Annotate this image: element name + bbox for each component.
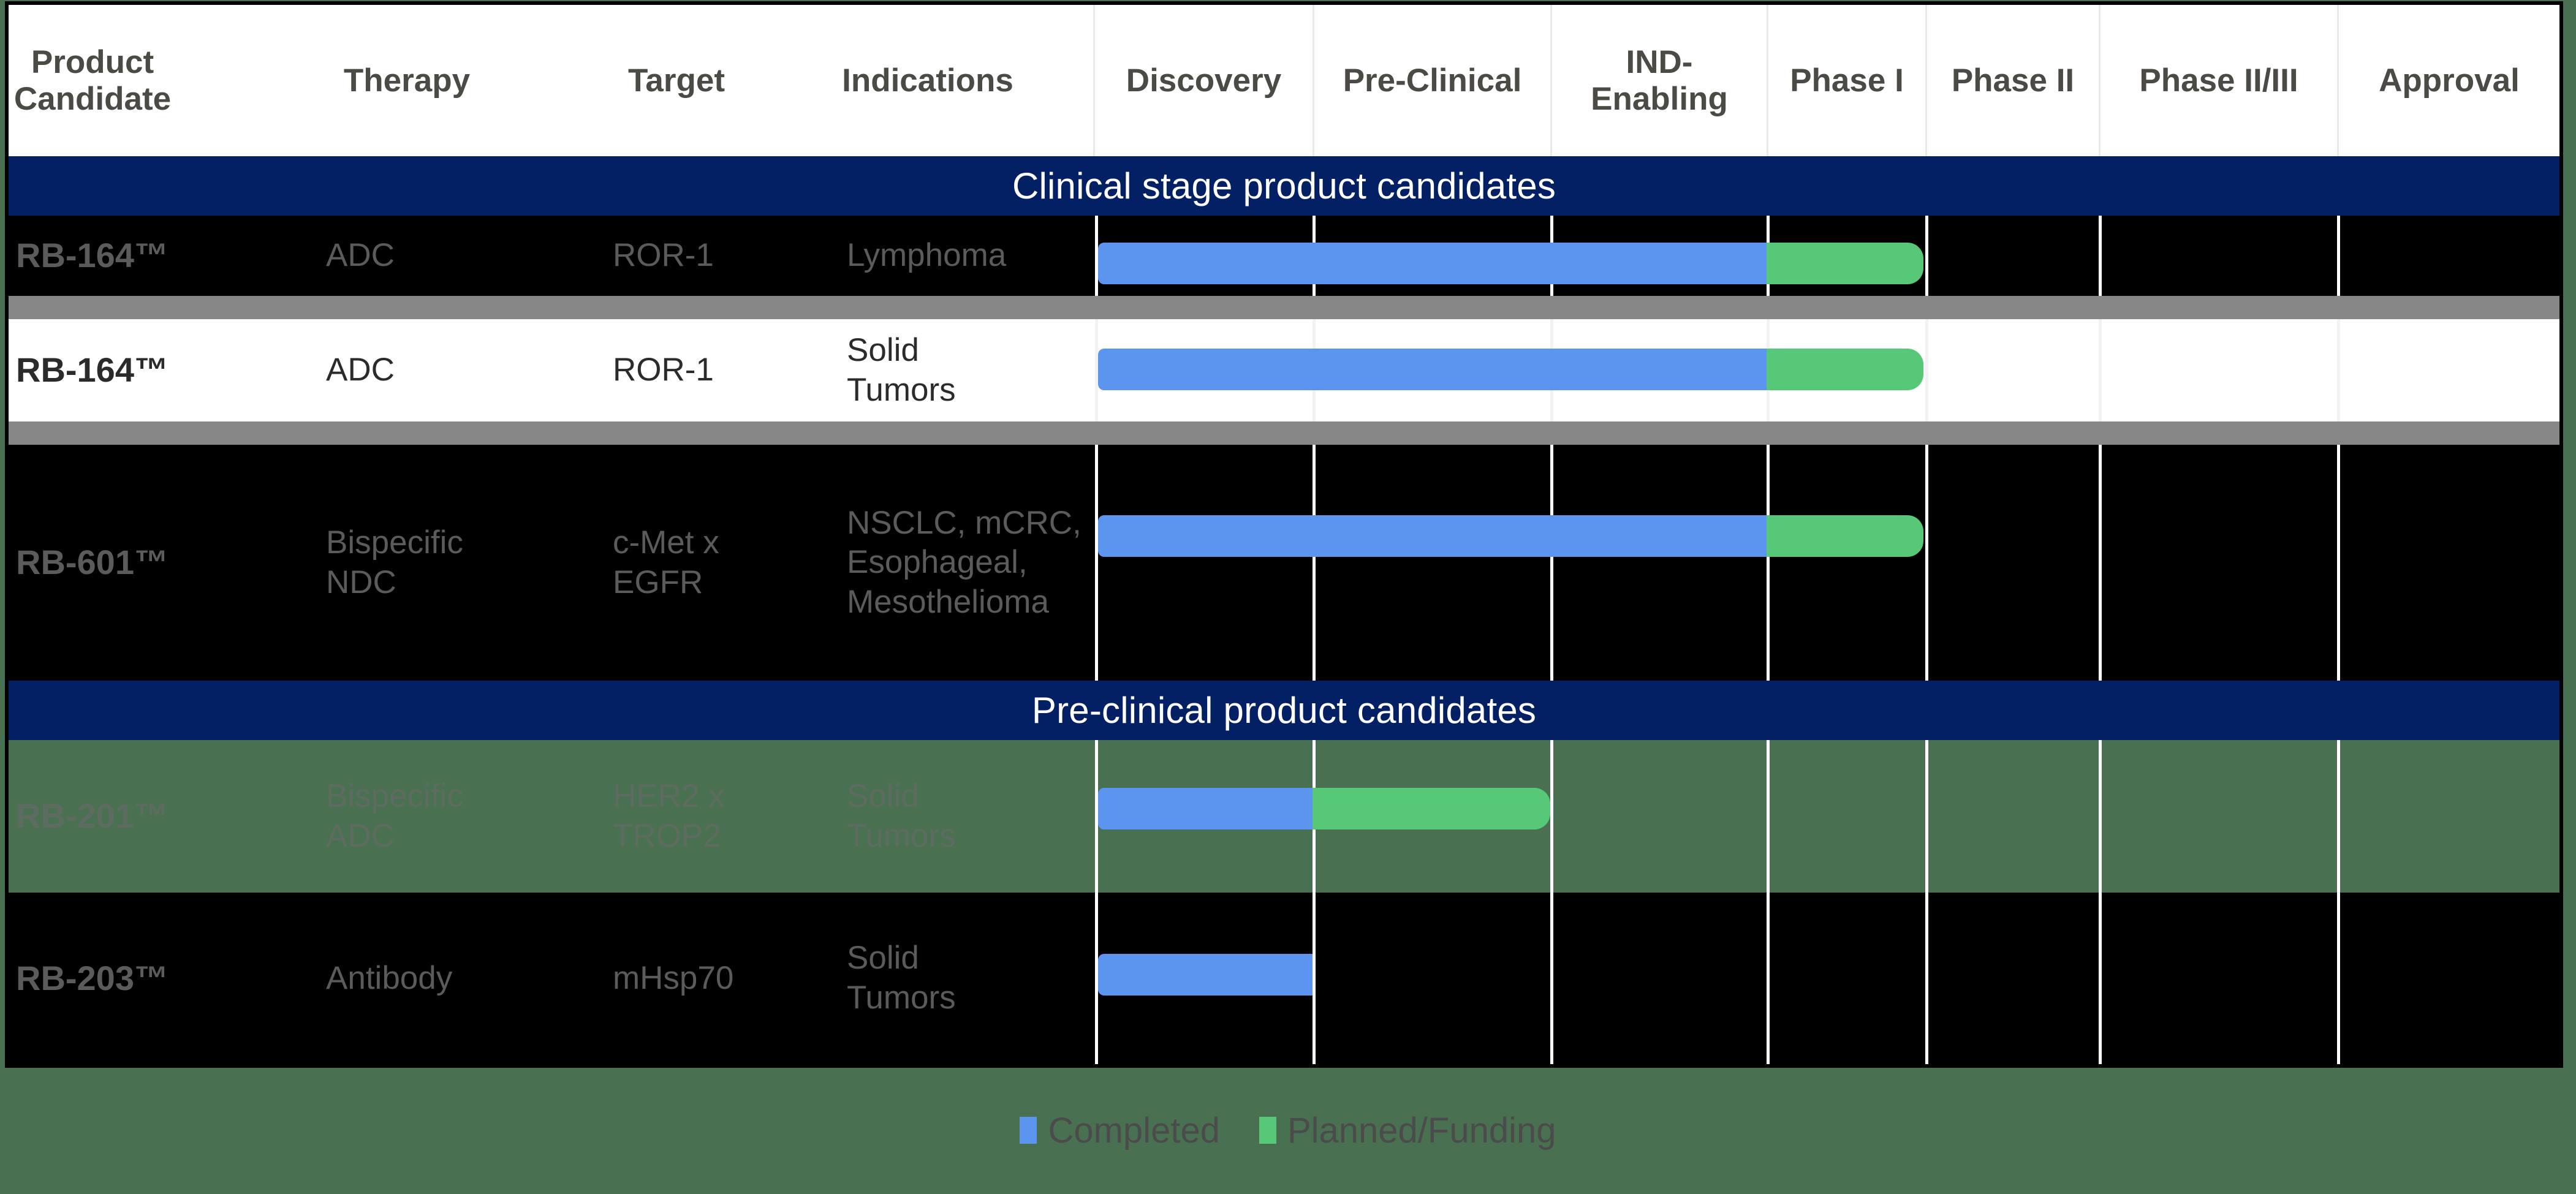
bar-planned xyxy=(1767,349,1923,390)
column-header-ind-enabling: IND- Enabling xyxy=(1552,5,1767,156)
lane-divider xyxy=(1095,445,1098,681)
lane-divider xyxy=(2337,319,2340,421)
column-header-candidate-line2: Candidate xyxy=(14,81,171,117)
cell-target: ROR-1 xyxy=(609,319,781,421)
legend-item-planned[interactable]: Planned/Funding xyxy=(1259,1110,1556,1151)
column-header-discovery: Discovery xyxy=(1095,5,1313,156)
cell-indications: Solid Tumors xyxy=(843,740,984,893)
table-row[interactable]: RB-164™ ADC ROR-1 Lymphoma xyxy=(9,216,2559,296)
lane-divider xyxy=(2099,216,2102,296)
lane-divider xyxy=(2337,445,2340,681)
cell-target: HER2 x TROP2 xyxy=(609,740,750,893)
column-header-ind-line2: Enabling xyxy=(1591,81,1728,117)
bar-planned xyxy=(1313,788,1550,829)
cell-product-candidate: RB-601™ xyxy=(12,445,173,681)
table-row[interactable]: RB-203™ Antibody mHsp70 Solid Tumors xyxy=(9,893,2559,1064)
table-row[interactable]: RB-601™ Bispecific NDC c-Met x EGFR NSCL… xyxy=(9,445,2559,681)
lane-divider xyxy=(2337,893,2340,1064)
legend-label-planned: Planned/Funding xyxy=(1287,1110,1556,1151)
legend-swatch-planned-icon xyxy=(1259,1117,1276,1144)
bar-completed xyxy=(1098,349,1767,390)
legend: Completed Planned/Funding xyxy=(0,1103,2576,1158)
lane-divider xyxy=(1925,740,1928,893)
column-header-phase2: Phase II xyxy=(1927,5,2099,156)
lane-divider xyxy=(1767,445,1770,681)
lane-divider xyxy=(1925,216,1928,296)
column-header-therapy: Therapy xyxy=(315,5,499,156)
legend-item-completed[interactable]: Completed xyxy=(1020,1110,1219,1151)
cell-target: c-Met x EGFR xyxy=(609,445,750,681)
cell-therapy: ADC xyxy=(322,319,506,421)
column-header-indications: Indications xyxy=(817,5,1038,156)
cell-product-candidate: RB-164™ xyxy=(12,216,173,296)
section-banner-clinical-label: Clinical stage product candidates xyxy=(1012,165,1556,207)
cell-product-candidate: RB-201™ xyxy=(12,740,173,893)
lane-divider xyxy=(1767,740,1770,893)
pipeline-table: Product Candidate Therapy Target Indicat… xyxy=(5,1,2563,1068)
section-banner-clinical: Clinical stage product candidates xyxy=(9,156,2559,216)
column-header-target: Target xyxy=(591,5,762,156)
lane-divider xyxy=(1313,445,1316,681)
cell-product-candidate: RB-203™ xyxy=(12,893,173,1064)
row-separator xyxy=(9,421,2559,445)
bar-planned xyxy=(1767,515,1923,557)
lane-divider xyxy=(1550,893,1553,1064)
column-header-approval: Approval xyxy=(2339,5,2559,156)
lane-divider xyxy=(2099,893,2102,1064)
cell-indications: Solid Tumors xyxy=(843,319,984,421)
lane-divider xyxy=(2099,740,2102,893)
cell-therapy: Bispecific NDC xyxy=(322,445,463,681)
table-row[interactable]: RB-201™ Bispecific ADC HER2 x TROP2 Soli… xyxy=(9,740,2559,893)
legend-swatch-completed-icon xyxy=(1020,1117,1037,1144)
table-row[interactable]: RB-164™ ADC ROR-1 Solid Tumors xyxy=(9,319,2559,421)
lane-divider xyxy=(1767,893,1770,1064)
bar-completed xyxy=(1098,515,1767,557)
lane-divider xyxy=(2099,319,2102,421)
cell-target: mHsp70 xyxy=(609,893,793,1064)
column-header-candidate-line1: Product xyxy=(31,44,154,80)
cell-indications: Solid Tumors xyxy=(843,893,984,1064)
section-banner-preclinical-label: Pre-clinical product candidates xyxy=(1032,689,1536,731)
lane-divider xyxy=(1313,893,1316,1064)
column-header-phase1: Phase I xyxy=(1768,5,1925,156)
lane-divider xyxy=(1550,740,1553,893)
column-header-ind-line1: IND- xyxy=(1626,44,1693,80)
cell-target: ROR-1 xyxy=(609,216,781,296)
legend-label-completed: Completed xyxy=(1048,1110,1219,1151)
bar-completed xyxy=(1098,788,1313,829)
lane-divider xyxy=(1925,445,1928,681)
cell-therapy: Bispecific ADC xyxy=(322,740,463,893)
cell-therapy: Antibody xyxy=(322,893,506,1064)
row-separator xyxy=(9,296,2559,319)
lane-divider xyxy=(1550,445,1553,681)
bar-completed xyxy=(1098,954,1313,996)
lane-divider xyxy=(2337,740,2340,893)
bar-completed xyxy=(1098,243,1767,284)
lane-divider xyxy=(1925,893,1928,1064)
cell-therapy: ADC xyxy=(322,216,506,296)
column-header-preclinical: Pre-Clinical xyxy=(1314,5,1550,156)
bar-planned xyxy=(1767,243,1923,284)
cell-indications: NSCLC, mCRC, Esophageal, Mesothelioma xyxy=(843,445,1094,681)
lane-divider xyxy=(1925,319,1928,421)
lane-divider xyxy=(2337,216,2340,296)
table-header: Product Candidate Therapy Target Indicat… xyxy=(9,5,2559,156)
cell-product-candidate: RB-164™ xyxy=(12,319,173,421)
cell-indications: Lymphoma xyxy=(843,216,1076,296)
lane-divider xyxy=(2099,445,2102,681)
column-header-product-candidate: Product Candidate xyxy=(12,5,173,156)
section-banner-preclinical: Pre-clinical product candidates xyxy=(9,681,2559,740)
column-header-phase23: Phase II/III xyxy=(2101,5,2337,156)
